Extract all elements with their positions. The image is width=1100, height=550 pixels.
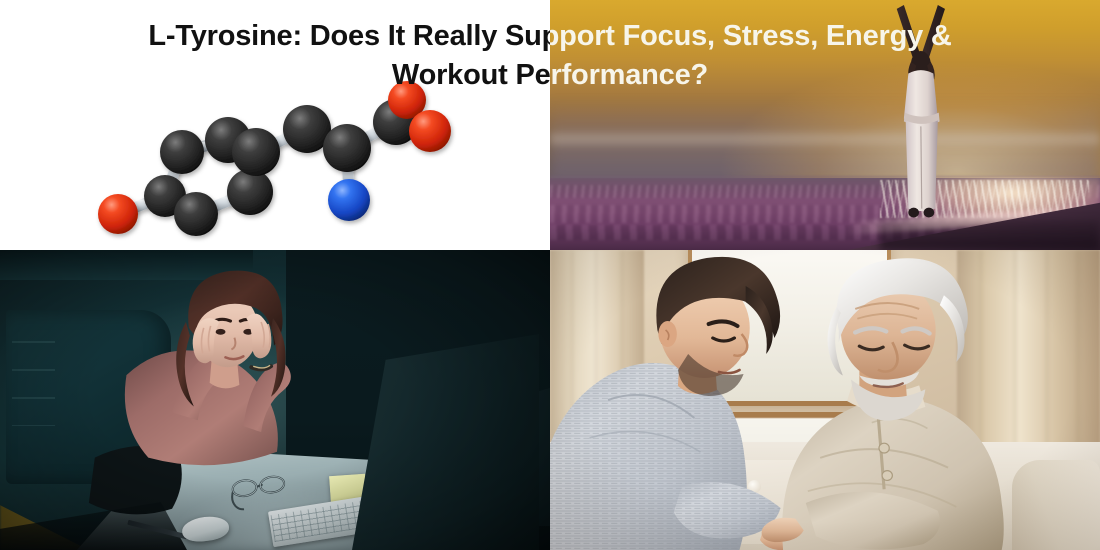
- oxygen-atom-phenol: [98, 194, 138, 234]
- l-tyrosine-molecule-graphic: [0, 0, 550, 250]
- carbon-atom-ring-4: [232, 128, 280, 176]
- panel-molecule: [0, 0, 550, 250]
- cloud-band: [550, 130, 1100, 148]
- oxygen-atom-hydroxyl: [409, 110, 451, 152]
- elderly-man-figure: [748, 256, 1078, 550]
- nitrogen-atom-amine: [328, 179, 370, 221]
- panel-sunset-beach: [550, 0, 1100, 250]
- eyeglasses: [215, 475, 303, 511]
- carbon-atom-alpha: [323, 124, 371, 172]
- hero-collage: L-Tyrosine: Does It Really Support Focus…: [0, 0, 1100, 550]
- molecule-atoms: [98, 81, 451, 236]
- carbon-atom-ring-6: [174, 192, 218, 236]
- panel-stressed-woman: [0, 250, 550, 550]
- silhouette-woman-arms-raised: [886, 3, 958, 238]
- carbon-atom-ring-5: [227, 169, 273, 215]
- carbon-atom-ring-2: [160, 130, 204, 174]
- panel-father-and-son: [550, 250, 1100, 550]
